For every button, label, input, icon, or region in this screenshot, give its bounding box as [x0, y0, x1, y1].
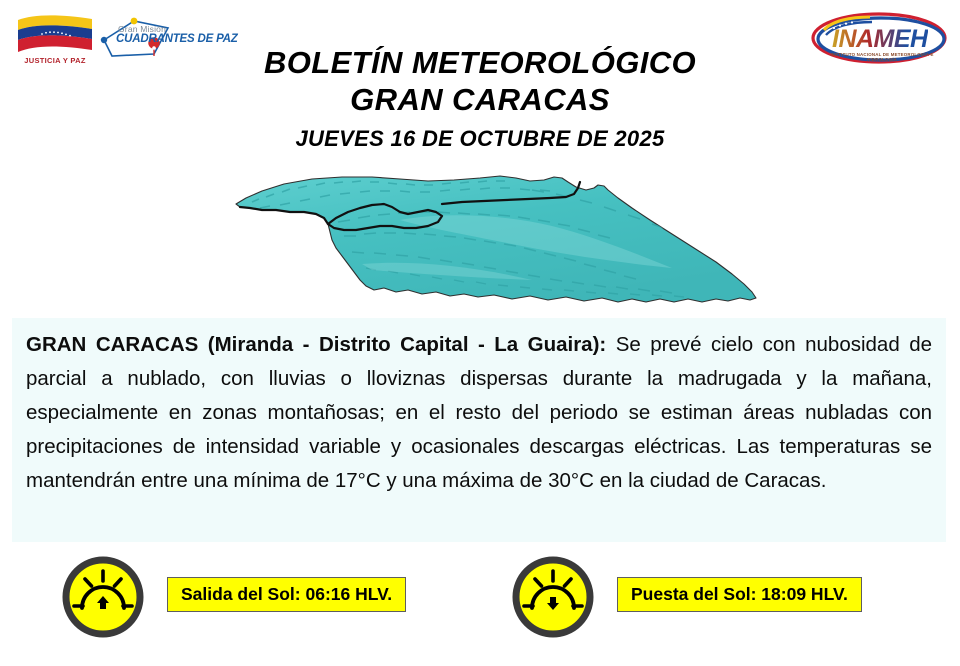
sunrise-label: Salida del Sol: 06:16 HLV.	[167, 577, 406, 612]
sunset-label: Puesta del Sol: 18:09 HLV.	[617, 577, 862, 612]
bulletin-date: JUEVES 16 DE OCTUBRE DE 2025	[0, 126, 960, 152]
forecast-panel: GRAN CARACAS (Miranda - Distrito Capital…	[12, 318, 946, 542]
sunset-icon	[512, 556, 594, 638]
sunrise-icon	[62, 556, 144, 638]
bulletin-title-block: BOLETÍN METEOROLÓGICO GRAN CARACAS JUEVE…	[0, 44, 960, 152]
forecast-region-label: GRAN CARACAS (Miranda - Distrito Capital…	[26, 333, 606, 356]
bulletin-title-line1: BOLETÍN METEOROLÓGICO	[0, 44, 960, 81]
bulletin-title-line2: GRAN CARACAS	[0, 81, 960, 118]
gran-caracas-map	[232, 168, 760, 310]
weather-bulletin-page: JUSTICIA Y PAZ Gran Misión CUADRANTES DE…	[0, 0, 960, 666]
forecast-paragraph: GRAN CARACAS (Miranda - Distrito Capital…	[26, 328, 932, 498]
forecast-body-text: Se prevé cielo con nubosidad de parcial …	[26, 333, 932, 492]
